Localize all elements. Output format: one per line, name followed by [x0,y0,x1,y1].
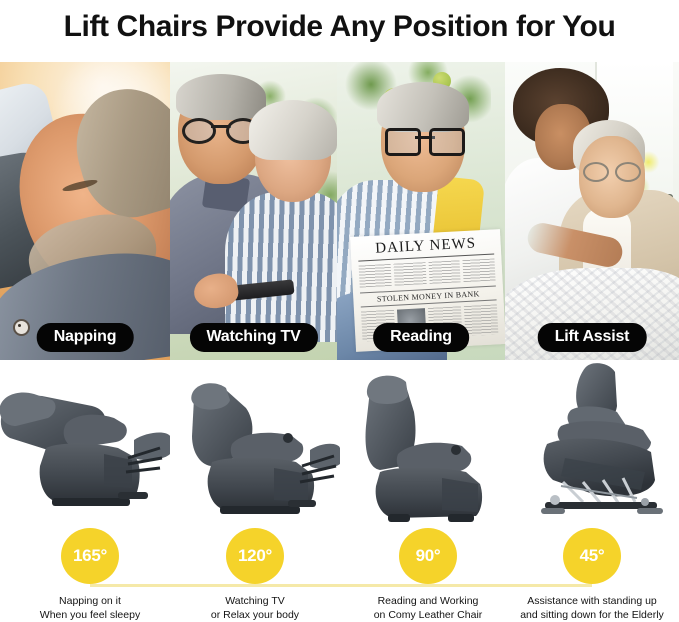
photo-panel-napping: Napping [0,62,170,360]
angle-badge-90: 90° [399,528,457,584]
lens-left [583,162,609,182]
eyeglasses-icon [385,128,465,150]
caption-line-2: and sitting down for the Elderly [520,609,664,621]
caption-line-1: Napping on it [59,595,121,607]
caption-line-1: Reading and Working [378,595,479,607]
lens-left [182,118,216,144]
timeline-caption-120: Watching TV or Relax your body [170,594,340,622]
timeline-caption-165: Napping on it When you feel sleepy [5,594,175,622]
lens-right [429,128,465,156]
angle-timeline: 165° Napping on it When you feel sleepy … [0,528,679,609]
woman-hair [249,100,337,160]
caption-line-1: Watching TV [225,595,285,607]
woman-striped-top [225,192,337,342]
photo-label-watching-tv: Watching TV [189,323,317,352]
lens-right [615,162,641,182]
timeline-item-90: 90° Reading and Working on Comy Leather … [343,528,513,622]
angle-badge-45: 45° [563,528,621,584]
photo-panel-watching-tv: Watching TV [170,62,337,360]
caption-line-2: on Comy Leather Chair [374,609,483,621]
man-hair [176,74,266,120]
chair-illustration-reclined [0,362,170,528]
photo-panel-reading: DAILY NEWS STOLEN MONEY IN BANK Reading [337,62,505,360]
timeline-item-165: 165° Napping on it When you feel sleepy [5,528,175,622]
page-header: Lift Chairs Provide Any Position for You [0,0,679,50]
chair-svg-upright [340,362,505,528]
photo-label-napping: Napping [37,323,134,352]
photo-panel-lift-assist: Lift Assist [505,62,679,360]
caption-line-2: or Relax your body [211,609,299,621]
chair-illustration-lift [505,362,679,528]
reader-hair [377,82,469,132]
text-column [359,264,392,288]
text-column [428,260,461,284]
text-column [393,262,426,286]
page-title: Lift Chairs Provide Any Position for You [64,10,616,44]
text-column [464,304,499,336]
text-column [463,258,496,282]
lifestyle-photo-row: Napping Watching TV [0,62,679,360]
chair-svg-lift [505,362,679,528]
caption-line-1: Assistance with standing up [527,595,657,607]
angle-badge-120: 120° [226,528,284,584]
timeline-item-120: 120° Watching TV or Relax your body [170,528,340,622]
chair-illustration-partial-recline [170,362,340,528]
chair-illustration-upright [340,362,505,528]
chair-svg-reclined [0,362,170,528]
newspaper-top-columns [359,258,496,287]
chair-position-row [0,362,679,528]
timeline-item-45: 45° Assistance with standing up and sitt… [507,528,677,622]
grommet-icon [13,319,30,336]
timeline-caption-45: Assistance with standing up and sitting … [507,594,677,622]
chair-svg-partial-recline [170,362,340,528]
newspaper-masthead: DAILY NEWS [357,236,494,262]
photo-label-reading: Reading [373,323,469,352]
caption-line-2: When you feel sleepy [40,609,140,621]
eyeglasses-icon [583,162,641,178]
timeline-caption-90: Reading and Working on Comy Leather Chai… [343,594,513,622]
lens-left [385,128,421,156]
photo-label-lift-assist: Lift Assist [538,323,647,352]
newspaper-headline: STOLEN MONEY IN BANK [360,285,497,307]
angle-badge-165: 165° [61,528,119,584]
